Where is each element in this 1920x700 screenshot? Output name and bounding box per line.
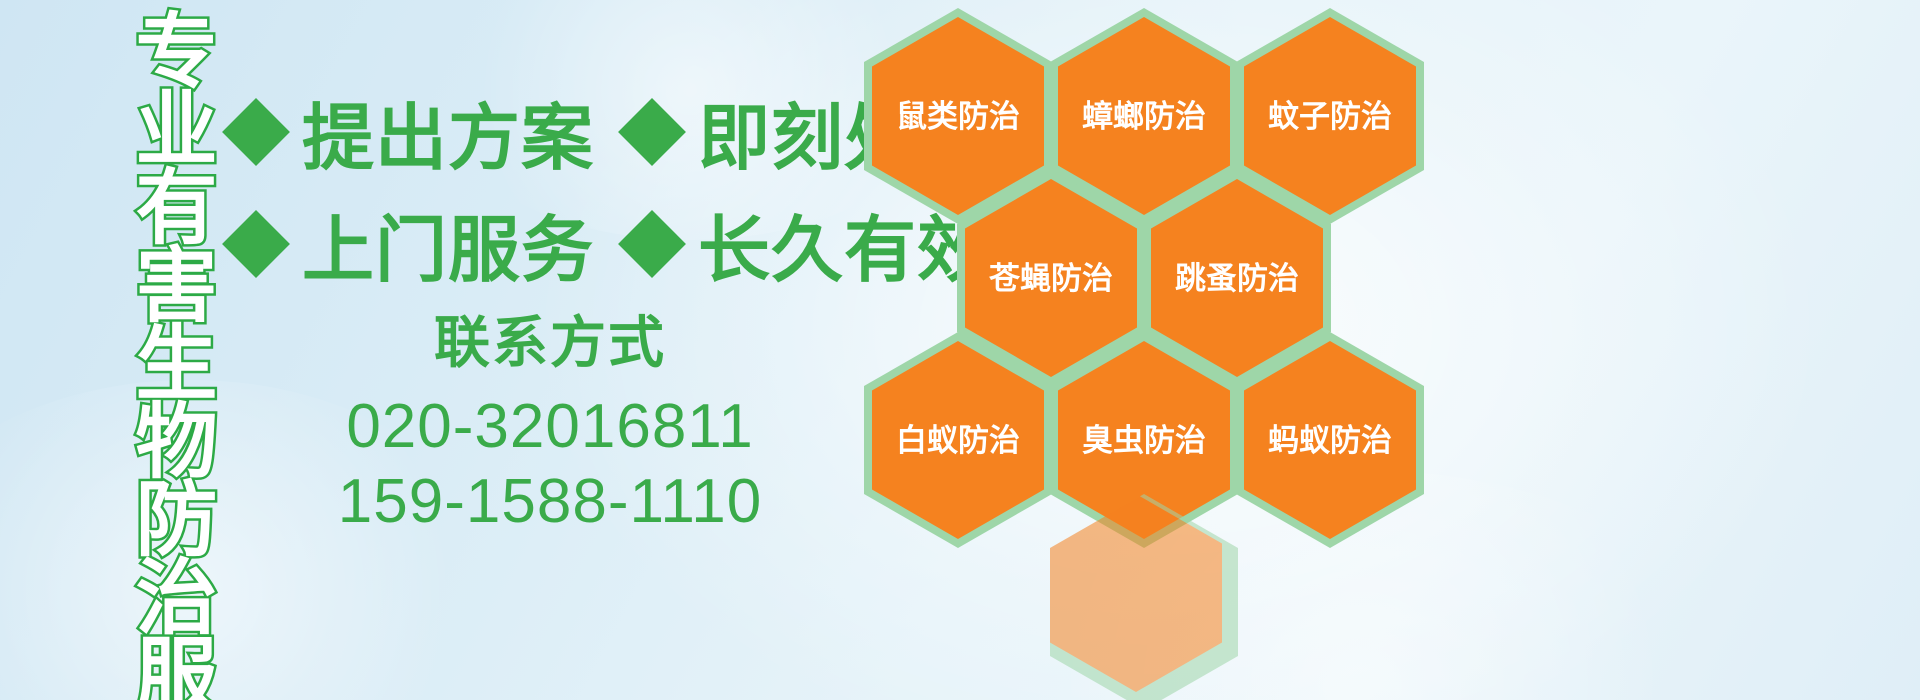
slogan-label: 上门服务 xyxy=(302,191,594,296)
contact-title: 联系方式 xyxy=(286,312,814,375)
service-label: 臭虫防治 xyxy=(1082,425,1206,456)
diamond-bullet-icon xyxy=(222,98,290,166)
hex-inner: 跳蚤防治 xyxy=(1151,179,1323,377)
diamond-bullet-icon xyxy=(618,98,686,166)
hex-inner: 蟑螂防治 xyxy=(1058,17,1230,215)
vertical-headline: 专业有害生物防治服务 xyxy=(104,8,208,700)
service-honeycomb: 鼠类防治 蟑螂防治 蚊子防治 苍蝇防治 跳蚤防治 白蚁防治 xyxy=(856,0,1476,700)
hex-inner xyxy=(1050,494,1222,692)
service-hex-partial-decoration xyxy=(1050,494,1238,700)
service-label: 蚊子防治 xyxy=(1268,101,1392,132)
hex-inner: 苍蝇防治 xyxy=(965,179,1137,377)
pest-control-banner: 专业有害生物防治服务 提出方案 即刻处理 上门服务 长久有效 联系方式 020-… xyxy=(0,0,1920,700)
contact-block: 联系方式 020-32016811 159-1588-1110 xyxy=(286,312,814,540)
service-label: 蟑螂防治 xyxy=(1082,101,1206,132)
slogan-item-3: 上门服务 xyxy=(232,191,594,296)
hex-inner: 蚊子防治 xyxy=(1244,17,1416,215)
slogan-label: 提出方案 xyxy=(302,79,594,184)
hex-inner: 蚂蚁防治 xyxy=(1244,341,1416,539)
service-label: 蚂蚁防治 xyxy=(1268,425,1392,456)
service-label: 跳蚤防治 xyxy=(1175,263,1299,294)
service-label: 苍蝇防治 xyxy=(989,263,1113,294)
phone-landline[interactable]: 020-32016811 xyxy=(286,389,814,465)
service-label: 白蚁防治 xyxy=(896,425,1020,456)
hex-inner: 白蚁防治 xyxy=(872,341,1044,539)
phone-mobile[interactable]: 159-1588-1110 xyxy=(286,464,814,540)
service-label: 鼠类防治 xyxy=(896,101,1020,132)
diamond-bullet-icon xyxy=(618,210,686,278)
hex-inner: 鼠类防治 xyxy=(872,17,1044,215)
slogan-item-1: 提出方案 xyxy=(232,79,594,184)
diamond-bullet-icon xyxy=(222,210,290,278)
